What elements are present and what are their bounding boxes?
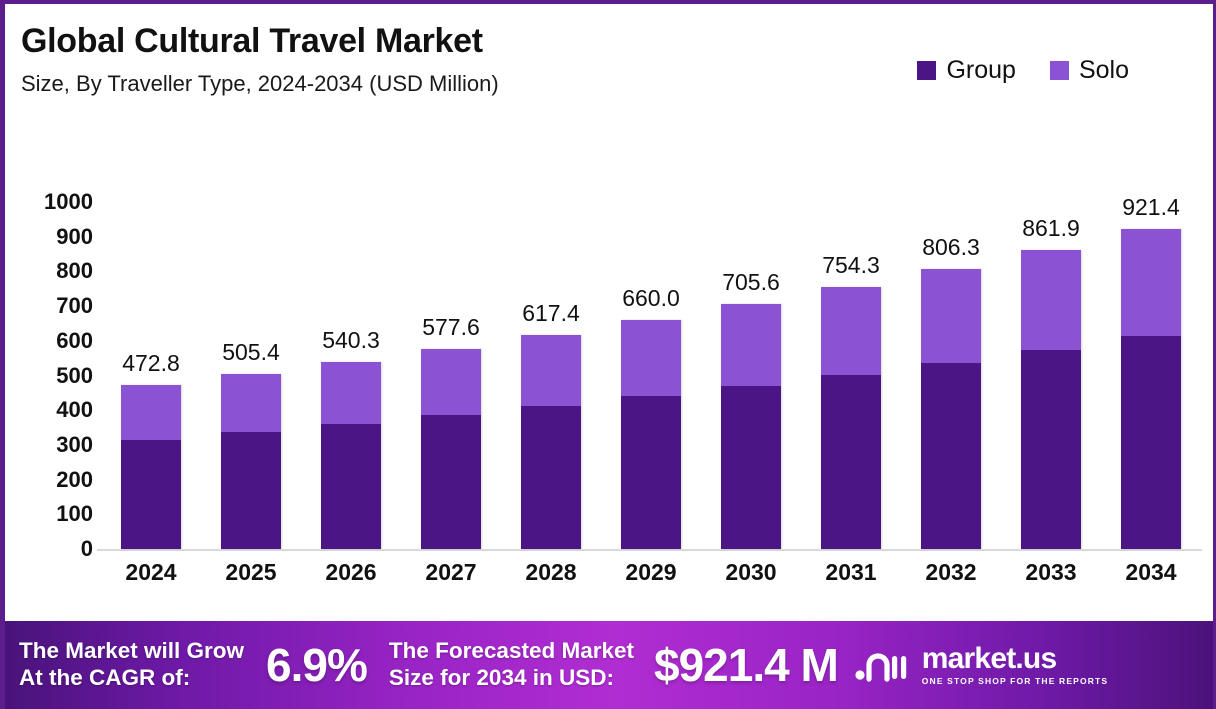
- bar-segment-group[interactable]: [521, 406, 581, 549]
- bar-group-2030[interactable]: 705.6: [703, 174, 799, 549]
- cagr-caption-line1: The Market will Grow: [19, 638, 244, 665]
- bar-stack[interactable]: [221, 374, 281, 549]
- page-title: Global Cultural Travel Market: [21, 22, 499, 61]
- x-axis-tick-2031: 2031: [803, 559, 899, 586]
- forecast-size-caption: The Forecasted Market Size for 2034 in U…: [389, 638, 634, 691]
- bar-group-2031[interactable]: 754.3: [803, 174, 899, 549]
- bar-group-2034[interactable]: 921.4: [1103, 174, 1199, 549]
- x-axis-tick-2033: 2033: [1003, 559, 1099, 586]
- bar-stack[interactable]: [1121, 229, 1181, 549]
- bar-value-label: 705.6: [722, 269, 780, 296]
- bar-group-2024[interactable]: 472.8: [103, 174, 199, 549]
- y-axis-tick-300: 300: [56, 434, 93, 456]
- bar-value-label: 577.6: [422, 314, 480, 341]
- y-axis-tick-900: 900: [56, 226, 93, 248]
- bar-segment-solo[interactable]: [921, 269, 981, 362]
- cagr-value: 6.9%: [266, 638, 367, 692]
- bar-segment-solo[interactable]: [1021, 250, 1081, 350]
- bar-group-2032[interactable]: 806.3: [903, 174, 999, 549]
- bar-segment-solo[interactable]: [1121, 229, 1181, 336]
- brand-tagline: ONE STOP SHOP FOR THE REPORTS: [922, 677, 1108, 686]
- bar-value-label: 921.4: [1122, 194, 1180, 221]
- y-axis-tick-600: 600: [56, 330, 93, 352]
- bar-stack[interactable]: [921, 269, 981, 549]
- y-axis-tick-400: 400: [56, 399, 93, 421]
- x-axis-tick-2034: 2034: [1103, 559, 1199, 586]
- bar-segment-group[interactable]: [921, 363, 981, 549]
- bar-segment-solo[interactable]: [121, 385, 181, 440]
- y-axis-tick-500: 500: [56, 365, 93, 387]
- bar-value-label: 472.8: [122, 350, 180, 377]
- y-axis-tick-100: 100: [56, 503, 93, 525]
- x-axis-tick-2032: 2032: [903, 559, 999, 586]
- bar-series-container: 472.8505.4540.3577.6617.4660.0705.6754.3…: [101, 174, 1201, 549]
- title-block: Global Cultural Travel Market Size, By T…: [21, 22, 499, 97]
- bar-stack[interactable]: [521, 335, 581, 549]
- bar-segment-group[interactable]: [321, 424, 381, 549]
- bar-segment-group[interactable]: [421, 415, 481, 549]
- bar-segment-solo[interactable]: [821, 287, 881, 374]
- bar-value-label: 505.4: [222, 339, 280, 366]
- brand-text: market.us ONE STOP SHOP FOR THE REPORTS: [922, 644, 1108, 686]
- legend-label: Solo: [1079, 56, 1129, 85]
- infographic-root: Global Cultural Travel Market Size, By T…: [0, 0, 1216, 709]
- bar-segment-solo[interactable]: [621, 320, 681, 396]
- x-axis-tick-2024: 2024: [103, 559, 199, 586]
- y-axis-tick-200: 200: [56, 469, 93, 491]
- legend-swatch-icon: [1050, 61, 1069, 80]
- bar-value-label: 617.4: [522, 300, 580, 327]
- bar-segment-solo[interactable]: [321, 362, 381, 425]
- y-axis: 01002003004005006007008009001000: [15, 202, 93, 549]
- x-axis-tick-2027: 2027: [403, 559, 499, 586]
- y-axis-tick-0: 0: [81, 538, 93, 560]
- bar-segment-solo[interactable]: [221, 374, 281, 433]
- bar-group-2028[interactable]: 617.4: [503, 174, 599, 549]
- x-axis-tick-2029: 2029: [603, 559, 699, 586]
- brand-name: market.us: [922, 644, 1108, 674]
- bar-segment-group[interactable]: [221, 432, 281, 549]
- chart-legend: GroupSolo: [917, 56, 1129, 85]
- bar-segment-group[interactable]: [1021, 350, 1081, 549]
- bar-stack[interactable]: [1021, 250, 1081, 549]
- chart-header: Global Cultural Travel Market Size, By T…: [5, 4, 1216, 134]
- legend-item-group[interactable]: Group: [917, 56, 1015, 85]
- bar-segment-group[interactable]: [821, 375, 881, 549]
- bar-value-label: 540.3: [322, 327, 380, 354]
- bar-segment-solo[interactable]: [521, 335, 581, 406]
- forecast-size-caption-line1: The Forecasted Market: [389, 638, 634, 665]
- plot-area: 01002003004005006007008009001000 472.850…: [5, 134, 1216, 609]
- bar-group-2026[interactable]: 540.3: [303, 174, 399, 549]
- bar-stack[interactable]: [121, 385, 181, 549]
- footer-banner: The Market will Grow At the CAGR of: 6.9…: [5, 621, 1216, 709]
- cagr-caption: The Market will Grow At the CAGR of:: [19, 638, 244, 691]
- y-axis-tick-800: 800: [56, 260, 93, 282]
- bar-group-2033[interactable]: 861.9: [1003, 174, 1099, 549]
- bar-segment-group[interactable]: [621, 396, 681, 549]
- cagr-caption-line2: At the CAGR of:: [19, 665, 244, 692]
- bar-value-label: 806.3: [922, 234, 980, 261]
- bar-segment-group[interactable]: [1121, 336, 1181, 549]
- x-axis-baseline: [97, 549, 1202, 551]
- bar-stack[interactable]: [621, 320, 681, 549]
- x-axis-tick-2030: 2030: [703, 559, 799, 586]
- bar-segment-group[interactable]: [121, 440, 181, 549]
- legend-item-solo[interactable]: Solo: [1050, 56, 1129, 85]
- brand-logo[interactable]: market.us ONE STOP SHOP FOR THE REPORTS: [852, 644, 1108, 686]
- forecast-size-value: $921.4 M: [654, 638, 838, 692]
- bar-stack[interactable]: [821, 287, 881, 549]
- chart-subtitle: Size, By Traveller Type, 2024-2034 (USD …: [21, 71, 499, 97]
- legend-swatch-icon: [917, 61, 936, 80]
- bar-group-2029[interactable]: 660.0: [603, 174, 699, 549]
- x-axis-tick-2028: 2028: [503, 559, 599, 586]
- x-axis: 2024202520262027202820292030203120322033…: [101, 559, 1201, 586]
- bar-value-label: 754.3: [822, 252, 880, 279]
- bar-value-label: 861.9: [1022, 215, 1080, 242]
- x-axis-tick-2026: 2026: [303, 559, 399, 586]
- bar-segment-group[interactable]: [721, 386, 781, 549]
- bar-stack[interactable]: [421, 349, 481, 549]
- bar-value-label: 660.0: [622, 285, 680, 312]
- y-axis-tick-700: 700: [56, 295, 93, 317]
- bar-stack[interactable]: [321, 362, 381, 549]
- y-axis-tick-1000: 1000: [44, 191, 93, 213]
- bar-segment-solo[interactable]: [721, 304, 781, 386]
- bar-group-2025[interactable]: 505.4: [203, 174, 299, 549]
- legend-label: Group: [946, 56, 1015, 85]
- bar-group-2027[interactable]: 577.6: [403, 174, 499, 549]
- x-axis-tick-2025: 2025: [203, 559, 299, 586]
- bar-segment-solo[interactable]: [421, 349, 481, 416]
- market-us-logo-icon: [852, 646, 914, 684]
- bar-stack[interactable]: [721, 304, 781, 549]
- forecast-size-caption-line2: Size for 2034 in USD:: [389, 665, 634, 692]
